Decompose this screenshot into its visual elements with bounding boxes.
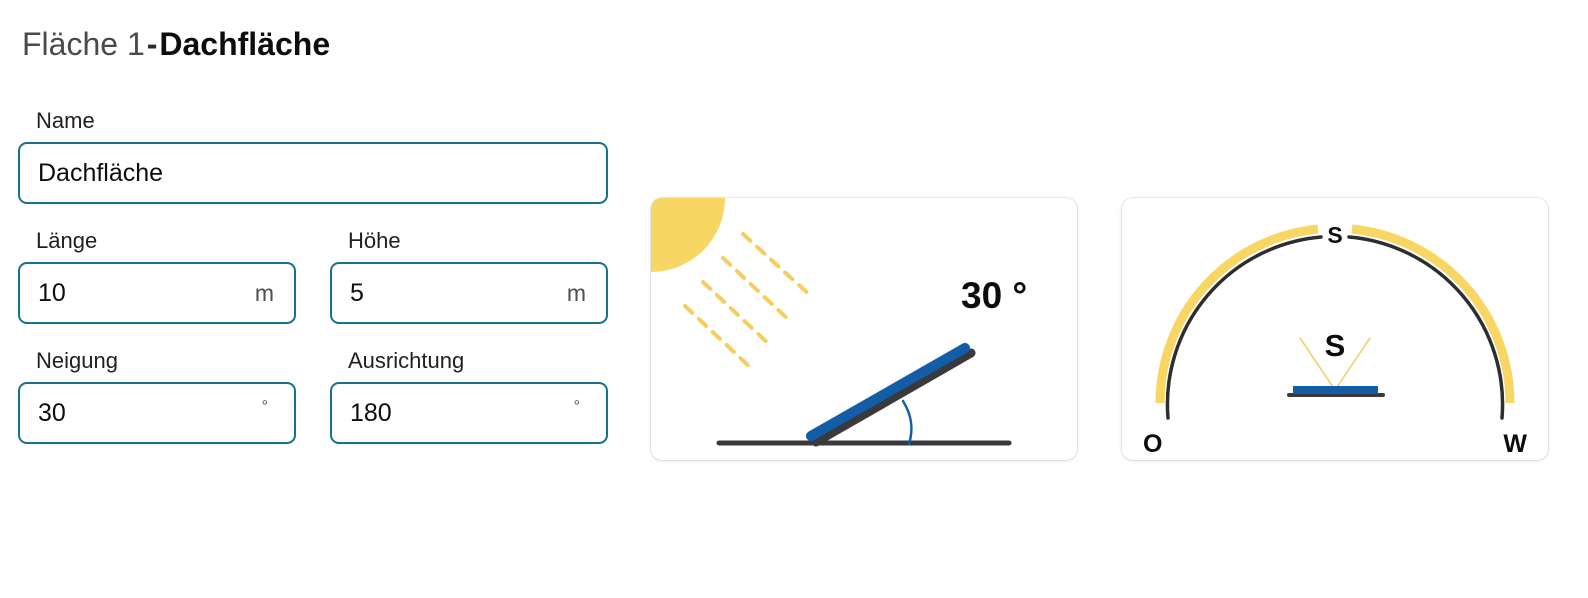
angle-arc-icon	[903, 401, 911, 444]
page-title-name: Dachfläche	[159, 26, 330, 62]
label-height: Höhe	[348, 228, 608, 254]
page-title-separator: -	[145, 26, 160, 62]
compass-illustration-card: S O W S	[1122, 198, 1548, 460]
unit-tilt: °	[262, 398, 278, 416]
compass-label-center: S	[1325, 328, 1346, 363]
input-tilt[interactable]: 30 °	[18, 382, 296, 444]
field-group-tilt: Neigung 30 °	[18, 348, 296, 444]
unit-height: m	[567, 280, 590, 307]
label-name: Name	[36, 108, 608, 134]
panel-frame-icon	[816, 353, 971, 442]
compass-label-south-top: S	[1327, 222, 1342, 248]
orientation-highlight-arc-icon	[1160, 229, 1510, 403]
sun-rays-icon	[685, 234, 813, 368]
page-title: Fläche 1-Dachfläche	[22, 24, 330, 64]
input-height-value[interactable]: 5	[350, 279, 567, 308]
field-row-angles: Neigung 30 ° Ausrichtung 180 °	[18, 348, 618, 444]
area-form: Name Dachfläche Länge 10 m Höhe 5 m Neig…	[18, 108, 618, 444]
label-length: Länge	[36, 228, 296, 254]
tilt-angle-label: 30 °	[961, 275, 1027, 316]
input-orientation-value[interactable]: 180	[350, 399, 574, 428]
field-group-name: Name Dachfläche	[18, 108, 608, 204]
label-orientation: Ausrichtung	[348, 348, 608, 374]
input-length-value[interactable]: 10	[38, 279, 255, 308]
sun-icon	[651, 198, 725, 272]
tilt-illustration-card: 30 °	[651, 198, 1077, 460]
unit-orientation: °	[574, 398, 590, 416]
input-height[interactable]: 5 m	[330, 262, 608, 324]
field-group-height: Höhe 5 m	[330, 228, 608, 324]
page-title-area: Fläche 1	[22, 26, 145, 62]
input-orientation[interactable]: 180 °	[330, 382, 608, 444]
field-group-orientation: Ausrichtung 180 °	[330, 348, 608, 444]
label-tilt: Neigung	[36, 348, 296, 374]
solar-panel-icon	[811, 348, 965, 436]
compass-label-east: O	[1143, 430, 1162, 458]
field-row-dimensions: Länge 10 m Höhe 5 m	[18, 228, 618, 324]
unit-length: m	[255, 280, 278, 307]
input-length[interactable]: 10 m	[18, 262, 296, 324]
field-group-length: Länge 10 m	[18, 228, 296, 324]
input-name[interactable]: Dachfläche	[18, 142, 608, 204]
input-name-value[interactable]: Dachfläche	[38, 159, 590, 188]
compass-label-west: W	[1503, 430, 1527, 458]
input-tilt-value[interactable]: 30	[38, 399, 262, 428]
